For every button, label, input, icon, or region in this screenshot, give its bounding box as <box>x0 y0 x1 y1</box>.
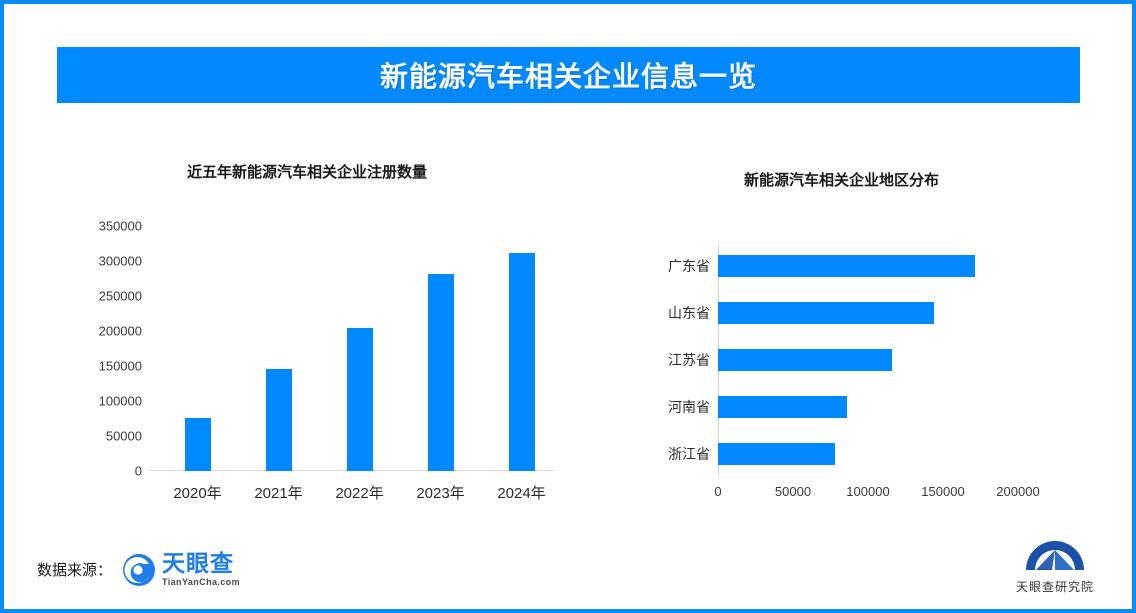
left-chart-y-tick: 200000 <box>22 324 142 339</box>
left-chart-y-tick: 50000 <box>22 429 142 444</box>
data-source-label: 数据来源： <box>37 559 112 580</box>
right-chart-category-label: 江苏省 <box>590 350 710 370</box>
region-distribution-bar-chart: 广东省山东省江苏省河南省浙江省 050000100000150000200000 <box>624 239 1064 509</box>
left-chart-bar <box>428 274 454 471</box>
right-chart-bar <box>718 396 847 418</box>
left-chart-y-tick: 150000 <box>22 359 142 374</box>
title-banner: 新能源汽车相关企业信息一览 <box>57 47 1080 103</box>
right-chart-category-label: 山东省 <box>590 303 710 323</box>
registration-count-column-chart: 0500001000001500002000002500003000003500… <box>84 214 584 504</box>
left-chart-x-tick: 2023年 <box>396 482 486 503</box>
page-title: 新能源汽车相关企业信息一览 <box>380 55 757 95</box>
left-chart-y-tick: 300000 <box>22 254 142 269</box>
left-chart-bar <box>347 328 373 472</box>
left-chart-x-tick: 2022年 <box>315 482 405 503</box>
left-chart-bar <box>266 369 292 471</box>
left-chart-y-tick: 250000 <box>22 289 142 304</box>
right-chart-bar <box>718 302 934 324</box>
left-chart-bar <box>509 253 535 471</box>
left-chart-y-tick: 350000 <box>22 219 142 234</box>
tianyancha-name-cn: 天眼查 <box>162 552 240 575</box>
right-chart-title: 新能源汽车相关企业地区分布 <box>744 169 939 190</box>
tianyancha-wordmark: 天眼查 TianYanCha.com <box>162 552 240 587</box>
left-chart-bar <box>185 418 211 471</box>
tianyancha-logo: 天眼查 TianYanCha.com <box>122 552 240 587</box>
right-chart-x-tick: 200000 <box>968 484 1068 499</box>
right-chart-category-label: 广东省 <box>590 256 710 276</box>
right-chart-bar <box>718 443 835 465</box>
left-chart-y-tick: 0 <box>22 464 142 479</box>
data-source-footer: 数据来源： 天眼查 TianYanCha.com <box>37 552 240 587</box>
institute-name: 天眼查研究院 <box>1016 578 1094 595</box>
left-chart-x-tick: 2020年 <box>153 482 243 503</box>
tianyancha-eye-icon <box>122 553 156 587</box>
tianyancha-name-en: TianYanCha.com <box>162 578 240 587</box>
left-chart-x-tick: 2024年 <box>477 482 567 503</box>
infographic-page: 新能源汽车相关企业信息一览 近五年新能源汽车相关企业注册数量 050000100… <box>0 0 1136 613</box>
right-chart-plot-area <box>718 243 1018 477</box>
left-chart-x-tick: 2021年 <box>234 482 324 503</box>
left-chart-title: 近五年新能源汽车相关企业注册数量 <box>187 161 427 182</box>
right-chart-category-label: 浙江省 <box>590 444 710 464</box>
left-chart-y-tick: 100000 <box>22 394 142 409</box>
right-chart-bar <box>718 255 975 277</box>
institute-footer: 天眼查研究院 <box>1007 534 1103 595</box>
right-chart-bar <box>718 349 892 371</box>
right-chart-category-label: 河南省 <box>590 397 710 417</box>
left-chart-plot-area <box>149 226 554 471</box>
institute-logo-icon <box>1022 534 1088 576</box>
